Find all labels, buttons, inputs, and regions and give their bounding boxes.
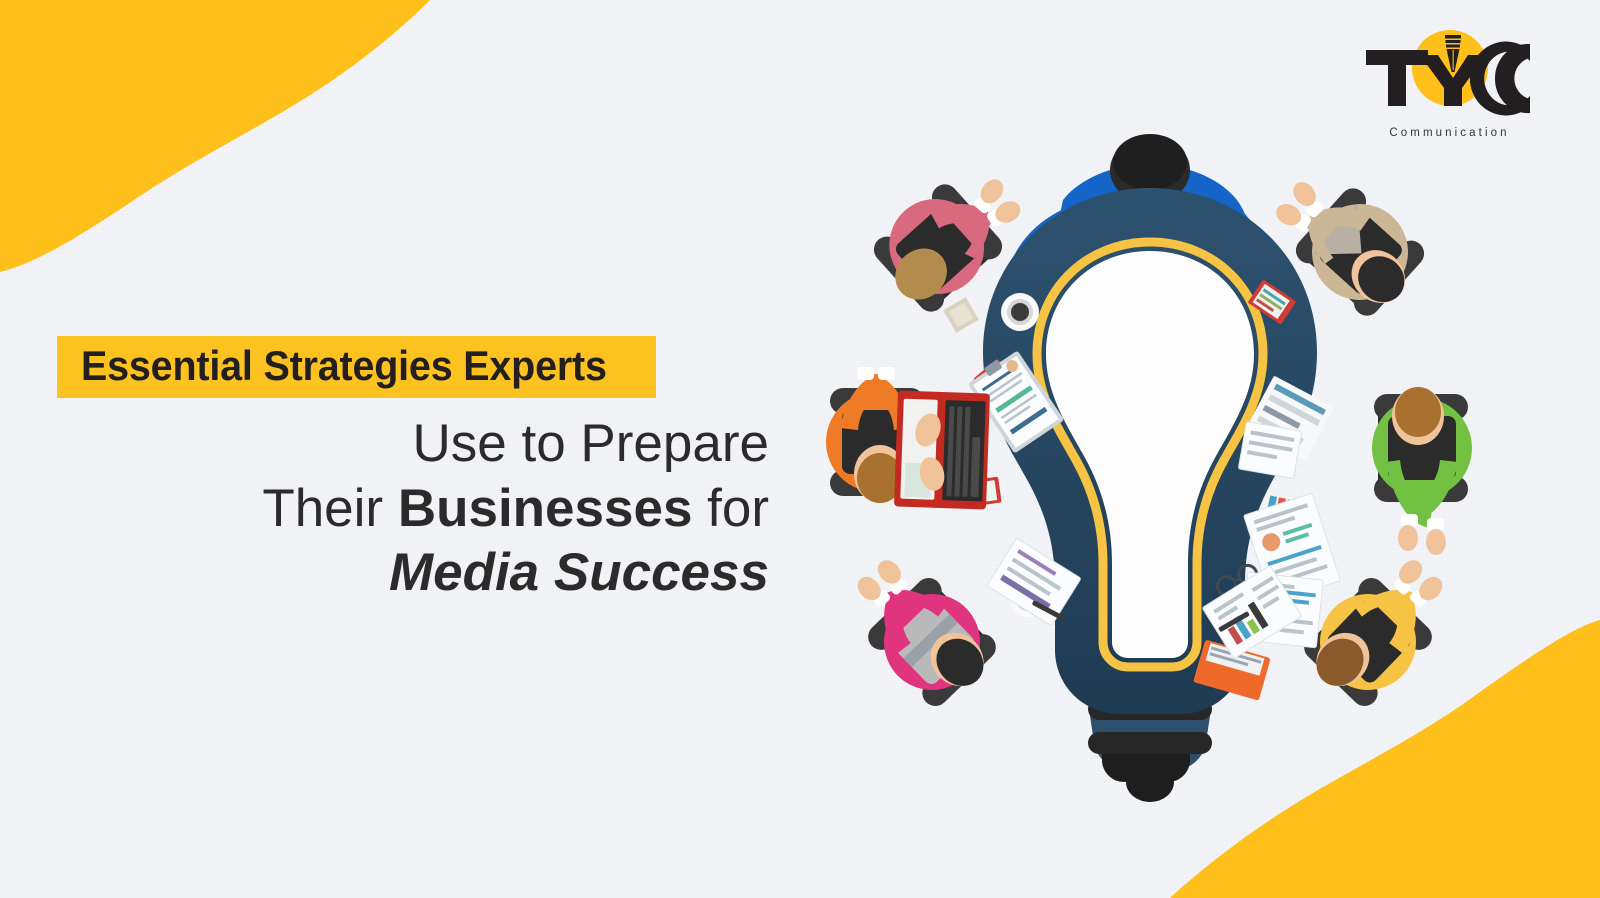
red-laptop-icon	[894, 390, 990, 509]
coffee-cup-icon	[1001, 293, 1039, 331]
headline-line-3-prefix: Their	[262, 479, 397, 538]
headline-line-1: Essential Strategies Experts	[81, 345, 607, 387]
logo-wordmark-svg	[1358, 28, 1538, 120]
decorative-wave-top-left	[0, 0, 430, 300]
headline-line-3-suffix: for	[692, 479, 769, 538]
headline-block: Essential Strategies Experts Use to Prep…	[57, 336, 817, 606]
headline-line-3-bold: Businesses	[398, 479, 693, 538]
illustration-svg	[820, 130, 1480, 830]
lightbulb-conference-table-illustration	[820, 130, 1480, 830]
headline-line-4: Media Success	[57, 541, 769, 606]
document-sheet	[1238, 422, 1301, 479]
headline-highlight-bar: Essential Strategies Experts	[57, 336, 656, 398]
banner-canvas: Communication Essential Strategies Exper…	[0, 0, 1600, 898]
sticky-note-icon	[943, 297, 979, 333]
headline-line-2: Use to Prepare	[57, 412, 769, 477]
headline-line-3: Their Businesses for	[57, 477, 769, 542]
